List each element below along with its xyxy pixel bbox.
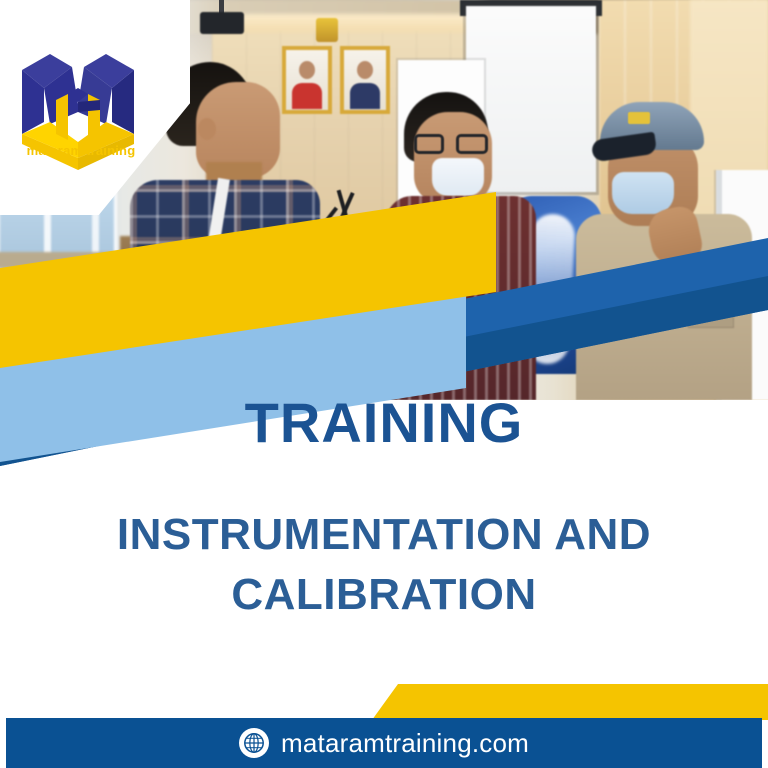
photo-person-2-striped-shirt <box>386 196 536 400</box>
photo-equipment-box <box>318 248 366 274</box>
photo-projector <box>200 12 244 34</box>
photo-wall-portrait-2 <box>340 46 390 114</box>
photo-wall-uplight <box>212 14 474 32</box>
website-url[interactable]: mataramtraining.com <box>281 728 529 759</box>
photo-microphone-base <box>318 238 362 248</box>
portrait-body <box>292 83 322 109</box>
photo-person-2-glasses <box>456 134 488 154</box>
portrait-head <box>299 61 315 79</box>
logo-wordmark: mataram training <box>16 143 146 158</box>
portrait-head <box>357 61 373 79</box>
photo-person-2-face-mask <box>432 158 484 196</box>
photo-person-1-ear <box>198 118 216 140</box>
logo-inner-shadow <box>78 100 100 112</box>
photo-person-3-cap-logo <box>628 112 650 124</box>
photo-wall-portrait-1 <box>282 46 332 114</box>
footer-bar: mataramtraining.com <box>6 718 762 768</box>
globe-icon <box>239 728 269 758</box>
photo-person-3-face-mask <box>612 172 674 214</box>
photo-person-1-plaid-shirt <box>130 180 320 400</box>
photo-person-1-badge <box>226 232 277 305</box>
photo-wall-emblem <box>316 18 338 42</box>
page-title: TRAINING <box>0 395 768 451</box>
page-subtitle: INSTRUMENTATION AND CALIBRATION <box>40 505 728 625</box>
photo-window-sill <box>0 252 124 268</box>
poster-canvas: mataram training TRAINING INSTRUMENTATIO… <box>0 0 768 768</box>
photo-person-2-glasses <box>414 134 444 154</box>
portrait-body <box>350 83 380 109</box>
bottom-yellow-accent <box>0 684 768 720</box>
